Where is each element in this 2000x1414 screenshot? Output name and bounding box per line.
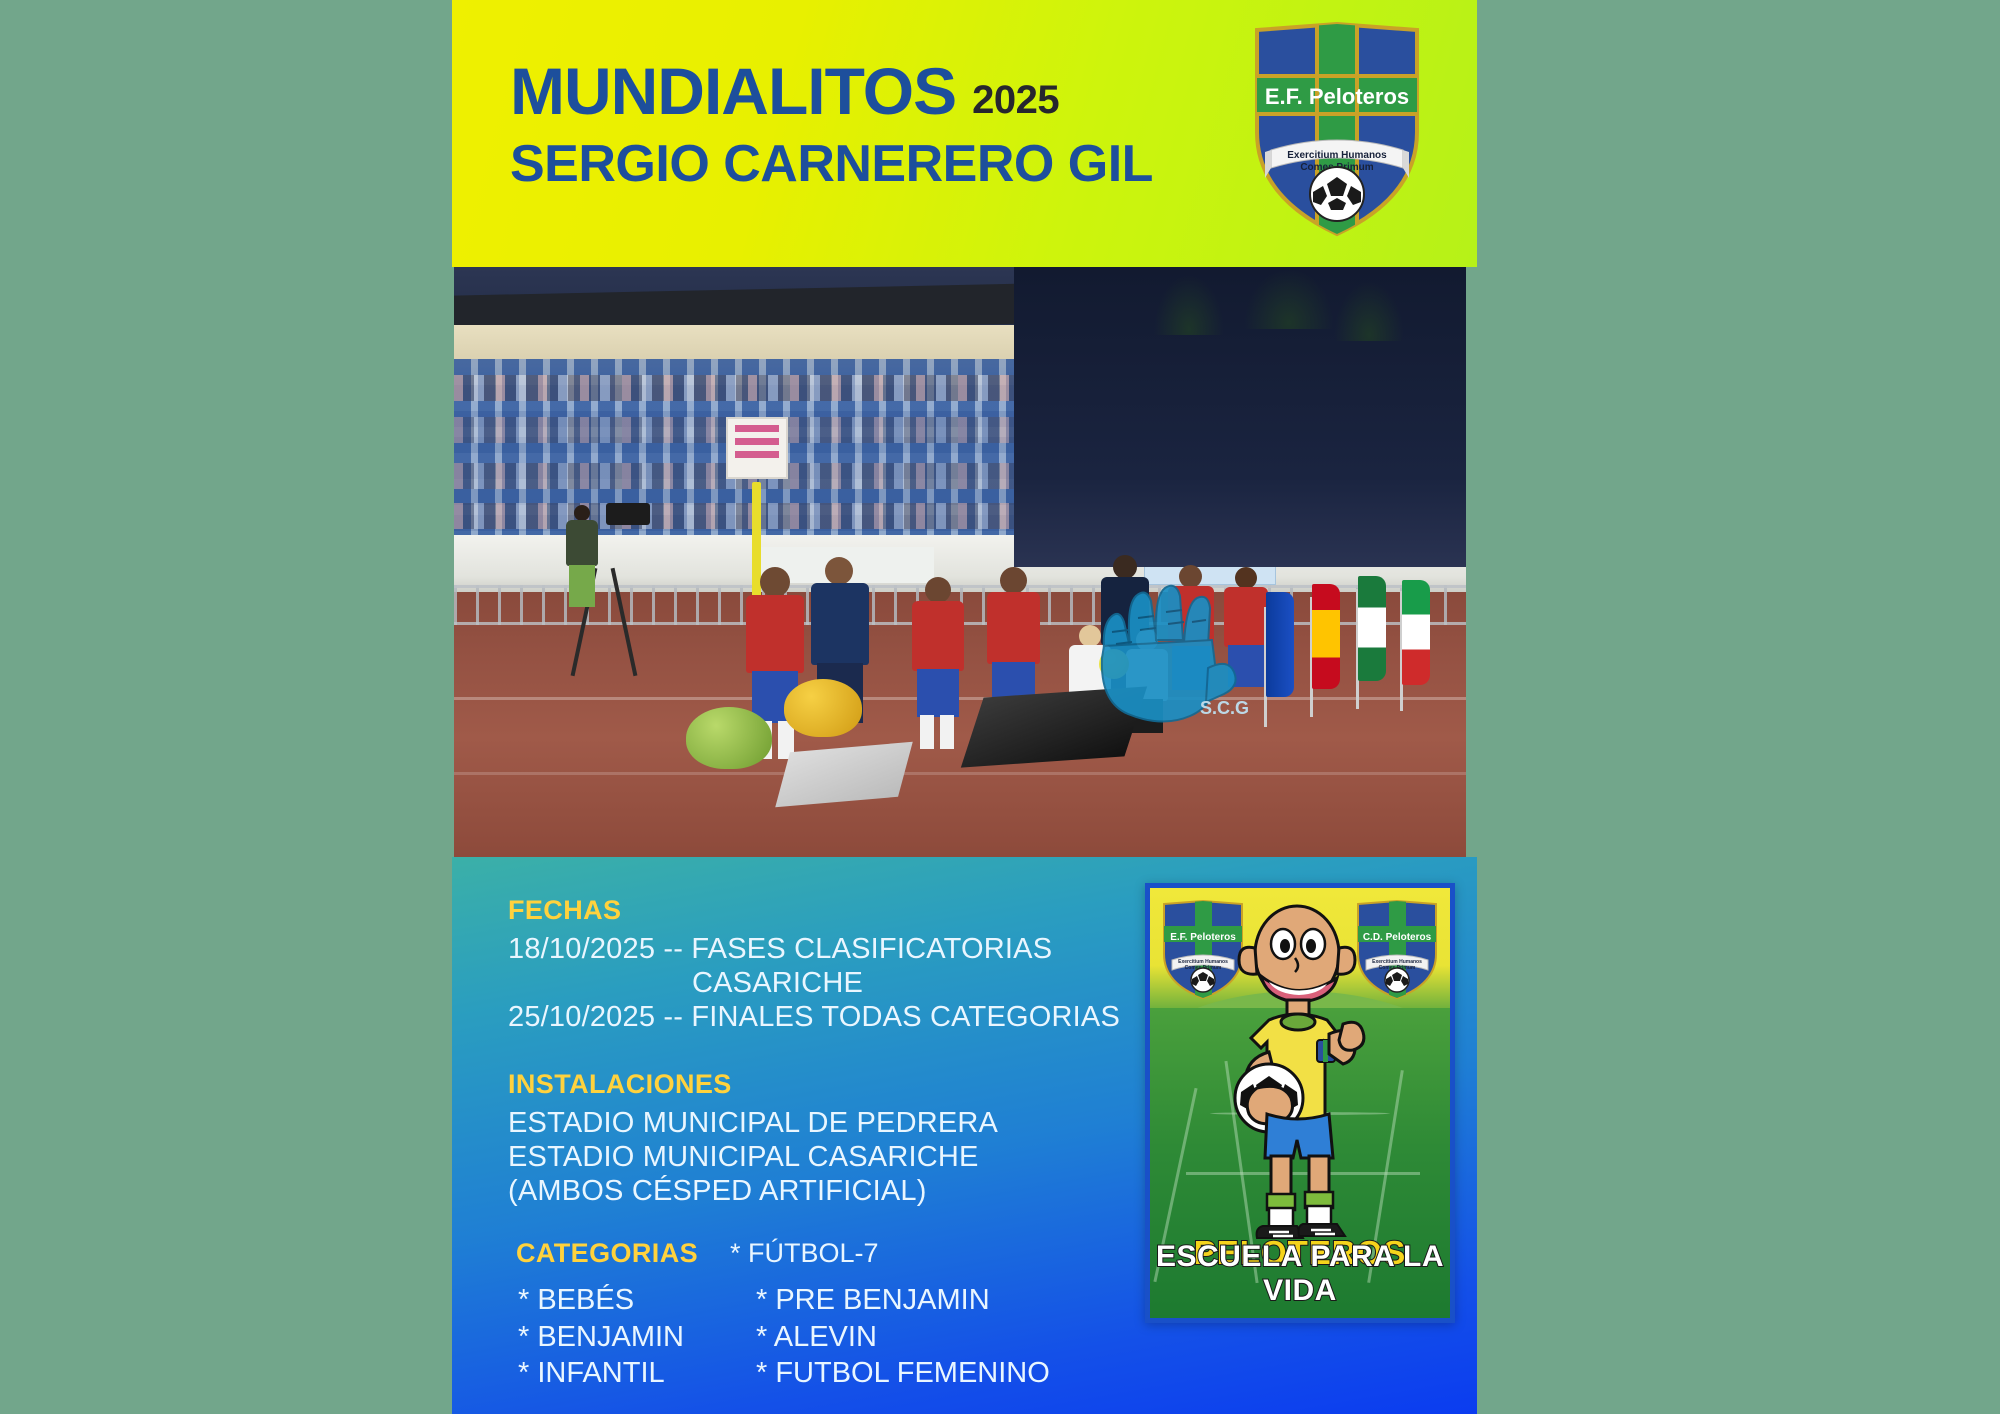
instalaciones-line: (AMBOS CÉSPED ARTIFICIAL) — [508, 1174, 1148, 1208]
categoria-item: * INFANTIL — [518, 1356, 756, 1390]
photo-palm-tree — [1244, 269, 1334, 329]
categorias-heading: CATEGORIAS — [516, 1238, 698, 1269]
info-text-column: FECHAS 18/10/2025 -- FASES CLASIFICATORI… — [508, 895, 1148, 1390]
categoria-item: * PRE BENJAMIN — [756, 1283, 1148, 1317]
photo-track-line — [454, 772, 1466, 775]
categoria-item: * BENJAMIN — [518, 1320, 756, 1354]
photo-flag-andalusia — [1358, 576, 1386, 681]
mascot-title-line2: ESCUELA PARA LA VIDA — [1150, 1240, 1450, 1308]
glove-watermark-text: S.C.G — [1200, 698, 1249, 718]
photo-team-sign — [726, 417, 788, 479]
opening-ceremony-photo: S.C.G — [454, 267, 1466, 857]
poster-info-panel: FECHAS 18/10/2025 -- FASES CLASIFICATORI… — [452, 857, 1477, 1414]
photo-palm-tree — [1154, 275, 1224, 335]
instalaciones-heading: INSTALACIONES — [508, 1069, 1148, 1100]
peloteros-mascot-poster: E.F. Peloteros Exercitium Humanos Comes … — [1145, 883, 1455, 1323]
peloteros-mascot-character — [1225, 902, 1375, 1247]
fechas-line: CASARICHE — [508, 966, 1148, 1000]
photo-flag-spain — [1312, 584, 1340, 689]
goalkeeper-gloves-icon: S.C.G — [1082, 572, 1262, 732]
photo-green-toy-hopper — [686, 707, 772, 769]
fechas-line: 25/10/2025 -- FINALES TODAS CATEGORIAS — [508, 1000, 1148, 1034]
photo-palm-tree — [1334, 281, 1404, 341]
photo-flag-eu — [1266, 592, 1294, 697]
page-subtitle: SERGIO CARNERERO GIL — [510, 138, 1170, 190]
poster-header: MUNDIALITOS 2025 SERGIO CARNERERO GIL — [452, 0, 1477, 267]
categoria-item: * BEBÉS — [518, 1283, 756, 1317]
page-title: MUNDIALITOS — [510, 58, 956, 124]
instalaciones-block: INSTALACIONES ESTADIO MUNICIPAL DE PEDRE… — [508, 1069, 1148, 1209]
instalaciones-line: ESTADIO MUNICIPAL DE PEDRERA — [508, 1106, 1148, 1140]
categorias-grid: * BEBÉS * PRE BENJAMIN * BENJAMIN * ALEV… — [508, 1283, 1148, 1390]
photo-track-line — [454, 697, 1466, 700]
ef-peloteros-crest-icon: E.F. Peloteros Exercitium Humanos Comes … — [1247, 22, 1427, 237]
photo-video-camera — [606, 503, 650, 525]
photo-yellow-toy-hopper — [784, 679, 862, 737]
categoria-item: * ALEVIN — [756, 1320, 1148, 1354]
crest-motto-line1: Exercitium Humanos — [1287, 150, 1387, 161]
poster-title-block: MUNDIALITOS 2025 SERGIO CARNERERO GIL — [510, 58, 1170, 190]
title-year: 2025 — [972, 80, 1059, 124]
fechas-block: FECHAS 18/10/2025 -- FASES CLASIFICATORI… — [508, 895, 1148, 1035]
categorias-block: CATEGORIAS * FÚTBOL-7 * BEBÉS * PRE BENJ… — [508, 1238, 1148, 1390]
crest-club-name: E.F. Peloteros — [1265, 84, 1409, 109]
fechas-line: 18/10/2025 -- FASES CLASIFICATORIAS — [508, 932, 1148, 966]
photo-flag-italy — [1402, 580, 1430, 685]
tournament-poster: MUNDIALITOS 2025 SERGIO CARNERERO GIL — [452, 0, 1477, 1414]
instalaciones-line: ESTADIO MUNICIPAL CASARICHE — [508, 1140, 1148, 1174]
categoria-item: * FUTBOL FEMENINO — [756, 1356, 1148, 1390]
categorias-format: * FÚTBOL-7 — [730, 1238, 879, 1269]
fechas-heading: FECHAS — [508, 895, 1148, 926]
